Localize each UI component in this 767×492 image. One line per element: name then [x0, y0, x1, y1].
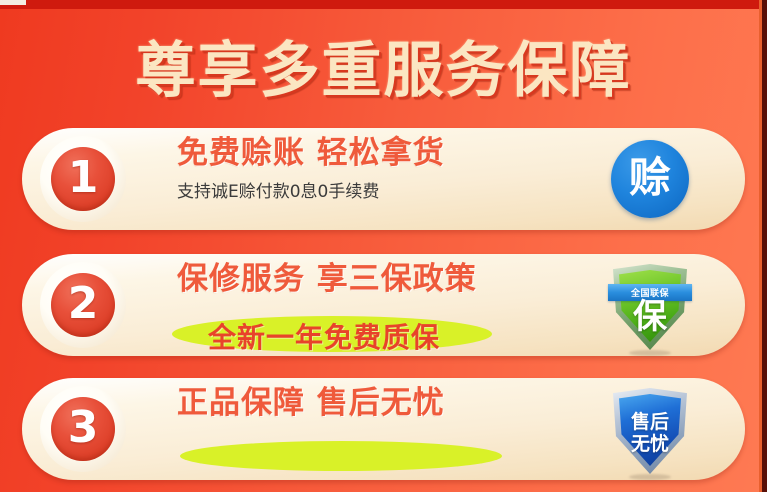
row-text-1: 免费赊账 轻松拿货 支持诚E赊付款0息0手续费 — [177, 134, 597, 202]
shield-character-blue: 售后 无忧 — [607, 412, 693, 456]
badge-shield-2: 全国联保 保 — [607, 262, 693, 348]
shield-green-icon: 全国联保 保 — [607, 262, 693, 356]
badge-shield-3: 售后 无忧 — [607, 386, 693, 472]
number-label-1: 1 — [68, 156, 99, 200]
row-text-2: 保修服务 享三保政策 — [177, 260, 597, 303]
row-title-1: 免费赊账 轻松拿货 — [177, 134, 597, 173]
top-left-notch — [0, 0, 26, 5]
banner-heading: 尊享多重服务保障 — [0, 22, 767, 109]
highlight-text-2: 全新一年免费质保 — [208, 316, 440, 356]
guarantee-row-1: 1 免费赊账 轻松拿货 支持诚E赊付款0息0手续费 赊 — [22, 128, 745, 230]
badge-coin-1: 赊 — [607, 136, 693, 222]
row-text-3: 正品保障 售后无忧 — [177, 384, 597, 427]
coin-icon: 赊 — [611, 140, 689, 218]
row-subtitle-1: 支持诚E赊付款0息0手续费 — [177, 177, 597, 202]
shield-blue-icon: 售后 无忧 — [607, 386, 693, 480]
row-title-2: 保修服务 享三保政策 — [177, 260, 597, 299]
right-edge-border — [762, 0, 767, 492]
service-guarantee-banner: 尊享多重服务保障 1 免费赊账 轻松拿货 支持诚E赊付款0息0手续费 赊 2 保… — [0, 0, 767, 492]
guarantee-row-3: 3 正品保障 售后无忧 售后 无忧 — [22, 378, 745, 480]
top-strip — [0, 0, 767, 9]
shield-shadow-2 — [629, 350, 671, 356]
number-badge-1: 1 — [51, 147, 115, 211]
number-label-3: 3 — [68, 406, 99, 450]
shield-line-1: 售后 — [607, 412, 693, 434]
coin-character: 赊 — [629, 157, 671, 199]
shield-line-2: 无忧 — [607, 434, 693, 456]
shield-character-green: 保 — [607, 300, 693, 334]
number-badge-2: 2 — [51, 273, 115, 337]
highlight-ellipse-3 — [180, 441, 502, 471]
guarantee-row-2: 2 保修服务 享三保政策 全新一年免费质保 全国联保 保 — [22, 254, 745, 356]
row-title-3: 正品保障 售后无忧 — [177, 384, 597, 423]
number-label-2: 2 — [68, 282, 99, 326]
shield-shadow-3 — [629, 474, 671, 480]
number-badge-3: 3 — [51, 397, 115, 461]
